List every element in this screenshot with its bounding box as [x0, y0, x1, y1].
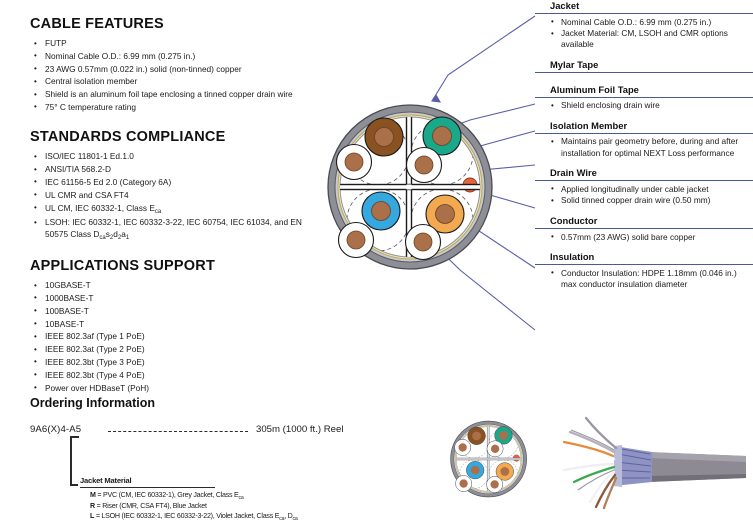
- list-item: 1000BASE-T: [30, 293, 315, 304]
- list-item: 10BASE-T: [30, 319, 315, 330]
- list-item: Central isolation member: [30, 76, 315, 87]
- section-cable-features: CABLE FEATURES FUTP Nominal Cable O.D.: …: [30, 16, 315, 113]
- list-item: Jacket Material: CM, LSOH and CMR option…: [548, 28, 753, 50]
- callout-rule: [535, 180, 753, 181]
- list-item: Nominal Cable O.D.: 6.99 mm (0.275 in.): [30, 51, 315, 62]
- callout-rule: [535, 264, 753, 265]
- list-item: Solid tinned copper drain wire (0.50 mm): [548, 195, 753, 206]
- section-title-cable-features: CABLE FEATURES: [30, 16, 315, 32]
- jacket-material-title: Jacket Material: [80, 476, 131, 485]
- section-standards-compliance: STANDARDS COMPLIANCE ISO/IEC 11801-1 Ed.…: [30, 129, 315, 242]
- callout-rule: [535, 97, 753, 98]
- callout-title-insulation: Insulation: [548, 251, 753, 264]
- jacket-option-l: L = LSOH (IEC 60332-1, IEC 60332-3-22), …: [90, 511, 298, 522]
- jacket-material-rule: [80, 487, 215, 488]
- list-item: LSOH: IEC 60332-1, IEC 60332-3-22, IEC 6…: [30, 217, 315, 242]
- list-item: 23 AWG 0.57mm (0.022 in.) solid (non-tin…: [30, 64, 315, 75]
- cable-features-list: FUTP Nominal Cable O.D.: 6.99 mm (0.275 …: [30, 38, 315, 113]
- section-title-applications-support: APPLICATIONS SUPPORT: [30, 258, 315, 274]
- list-item: Power over HDBaseT (PoH): [30, 383, 315, 394]
- callout-insulation-list: Conductor Insulation: HDPE 1.18mm (0.046…: [548, 268, 753, 290]
- list-item: Maintains pair geometry before, during a…: [548, 136, 753, 158]
- list-item: IEEE 802.3af (Type 1 PoE): [30, 331, 315, 342]
- cable-cross-section-diagram: [318, 92, 508, 282]
- list-item: 10GBASE-T: [30, 280, 315, 291]
- list-item: Conductor Insulation: HDPE 1.18mm (0.046…: [548, 268, 753, 290]
- section-title-standards-compliance: STANDARDS COMPLIANCE: [30, 129, 315, 145]
- cable-product-photo: [556, 412, 752, 510]
- callout-jacket-list: Nominal Cable O.D.: 6.99 mm (0.275 in.) …: [548, 17, 753, 51]
- callout-title-drain-wire: Drain Wire: [548, 167, 753, 180]
- list-item: 75° C temperature rating: [30, 102, 315, 113]
- list-item: 0.57mm (23 AWG) solid bare copper: [548, 232, 753, 243]
- list-item: Shield is an aluminum foil tape enclosin…: [30, 89, 315, 100]
- callout-conductor: Conductor 0.57mm (23 AWG) solid bare cop…: [548, 215, 753, 243]
- list-item: IEEE 802.3at (Type 2 PoE): [30, 344, 315, 355]
- elbow-foot: [70, 484, 78, 486]
- spacer: [548, 112, 753, 120]
- callout-title-mylar-tape: Mylar Tape: [548, 59, 753, 72]
- dotted-connector: [108, 431, 248, 432]
- cable-cross-section-thumbnail: [446, 415, 534, 503]
- ordering-information-title: Ordering Information: [30, 396, 430, 410]
- list-item: IEEE 802.3bt (Type 3 PoE): [30, 357, 315, 368]
- list-item: 100BASE-T: [30, 306, 315, 317]
- elbow-line: [70, 438, 72, 486]
- list-item: UL CM, IEC 60332-1, Class Eca: [30, 203, 315, 216]
- ordering-information-section: Ordering Information 9A6(X)4-A5 305m (10…: [30, 396, 430, 438]
- callout-drain-wire: Drain Wire Applied longitudinally under …: [548, 167, 753, 206]
- callout-column: Jacket Nominal Cable O.D.: 6.99 mm (0.27…: [548, 0, 753, 291]
- list-item: ANSI/TIA 568.2-D: [30, 164, 315, 175]
- list-item: IEC 61156-5 Ed 2.0 (Category 6A): [30, 177, 315, 188]
- callout-insulation: Insulation Conductor Insulation: HDPE 1.…: [548, 251, 753, 290]
- spacer: [548, 51, 753, 59]
- list-item: IEEE 802.3bt (Type 4 PoE): [30, 370, 315, 381]
- callout-aluminum-foil-tape: Aluminum Foil Tape Shield enclosing drai…: [548, 84, 753, 112]
- callout-title-isolation-member: Isolation Member: [548, 120, 753, 133]
- jacket-material-options: M = PVC (CM, IEC 60332-1), Grey Jacket, …: [90, 490, 298, 523]
- jacket-option-m: M = PVC (CM, IEC 60332-1), Grey Jacket, …: [90, 490, 298, 501]
- standards-compliance-list: ISO/IEC 11801-1 Ed.1.0 ANSI/TIA 568.2-D …: [30, 151, 315, 242]
- package-description: 305m (1000 ft.) Reel: [256, 424, 343, 435]
- callout-isolation-member-list: Maintains pair geometry before, during a…: [548, 136, 753, 158]
- applications-support-list: 10GBASE-T 1000BASE-T 100BASE-T 10BASE-T …: [30, 280, 315, 394]
- list-item: ISO/IEC 11801-1 Ed.1.0: [30, 151, 315, 162]
- callout-title-aluminum-foil-tape: Aluminum Foil Tape: [548, 84, 753, 97]
- datasheet-page: CABLE FEATURES FUTP Nominal Cable O.D.: …: [0, 0, 753, 513]
- callout-mylar-tape: Mylar Tape: [548, 59, 753, 73]
- callout-rule: [535, 72, 753, 73]
- list-item: Shield enclosing drain wire: [548, 100, 753, 111]
- left-content-column: CABLE FEATURES FUTP Nominal Cable O.D.: …: [30, 16, 315, 395]
- callout-title-conductor: Conductor: [548, 215, 753, 228]
- callout-rule: [535, 228, 753, 229]
- list-item: Applied longitudinally under cable jacke…: [548, 184, 753, 195]
- callout-aluminum-foil-tape-list: Shield enclosing drain wire: [548, 100, 753, 111]
- callout-conductor-list: 0.57mm (23 AWG) solid bare copper: [548, 232, 753, 243]
- section-applications-support: APPLICATIONS SUPPORT 10GBASE-T 1000BASE-…: [30, 258, 315, 394]
- ordering-row: 9A6(X)4-A5 305m (1000 ft.) Reel Jacket M…: [30, 424, 430, 438]
- callout-title-jacket: Jacket: [548, 0, 753, 13]
- callout-rule: [535, 13, 753, 14]
- callout-rule: [535, 133, 753, 134]
- spacer: [548, 243, 753, 251]
- jacket-option-r: R = Riser (CMR, CSA FT4), Blue Jacket: [90, 501, 298, 511]
- list-item: UL CMR and CSA FT4: [30, 190, 315, 201]
- callout-isolation-member: Isolation Member Maintains pair geometry…: [548, 120, 753, 159]
- callout-drain-wire-list: Applied longitudinally under cable jacke…: [548, 184, 753, 207]
- list-item: Nominal Cable O.D.: 6.99 mm (0.275 in.): [548, 17, 753, 28]
- part-number-code: 9A6(X)4-A5: [30, 424, 81, 435]
- spacer: [548, 76, 753, 84]
- spacer: [548, 207, 753, 215]
- callout-jacket: Jacket Nominal Cable O.D.: 6.99 mm (0.27…: [548, 0, 753, 51]
- spacer: [548, 159, 753, 167]
- list-item: FUTP: [30, 38, 315, 49]
